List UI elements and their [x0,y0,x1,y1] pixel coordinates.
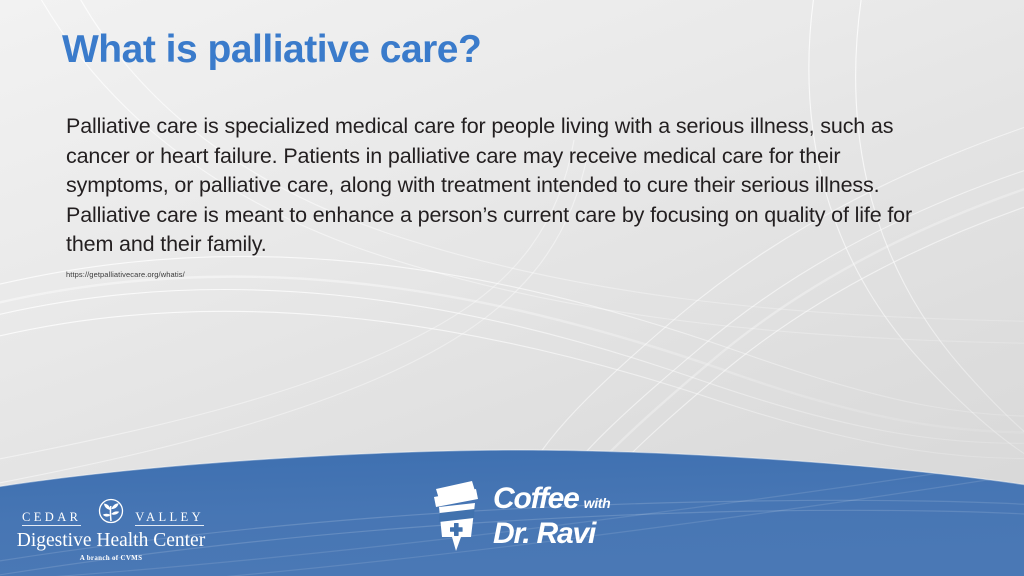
cedar-valley-main-name: Digestive Health Center [16,530,206,552]
slide-body-text: Palliative care is specialized medical c… [66,112,944,260]
coffee-host-name: Dr. Ravi [493,519,610,549]
slide-title: What is palliative care? [62,28,481,72]
cedar-valley-logo: CEDAR VALLEY Digestive Health Center A b… [16,498,206,562]
source-citation-url: https://getpalliativecare.org/whatis/ [66,270,185,279]
coffee-connector-word: with [584,496,611,510]
cedar-word-right: VALLEY [135,511,204,526]
coffee-brand-word: Coffee [493,484,579,514]
cedar-word-left: CEDAR [22,511,81,526]
presentation-slide: What is palliative care? Palliative care… [0,0,1024,576]
coffee-with-dr-ravi-logo: Coffee with Dr. Ravi [428,477,610,555]
coffee-cup-speech-bubble-icon [428,477,484,555]
cedar-valley-tagline: A branch of CVMS [16,554,206,562]
